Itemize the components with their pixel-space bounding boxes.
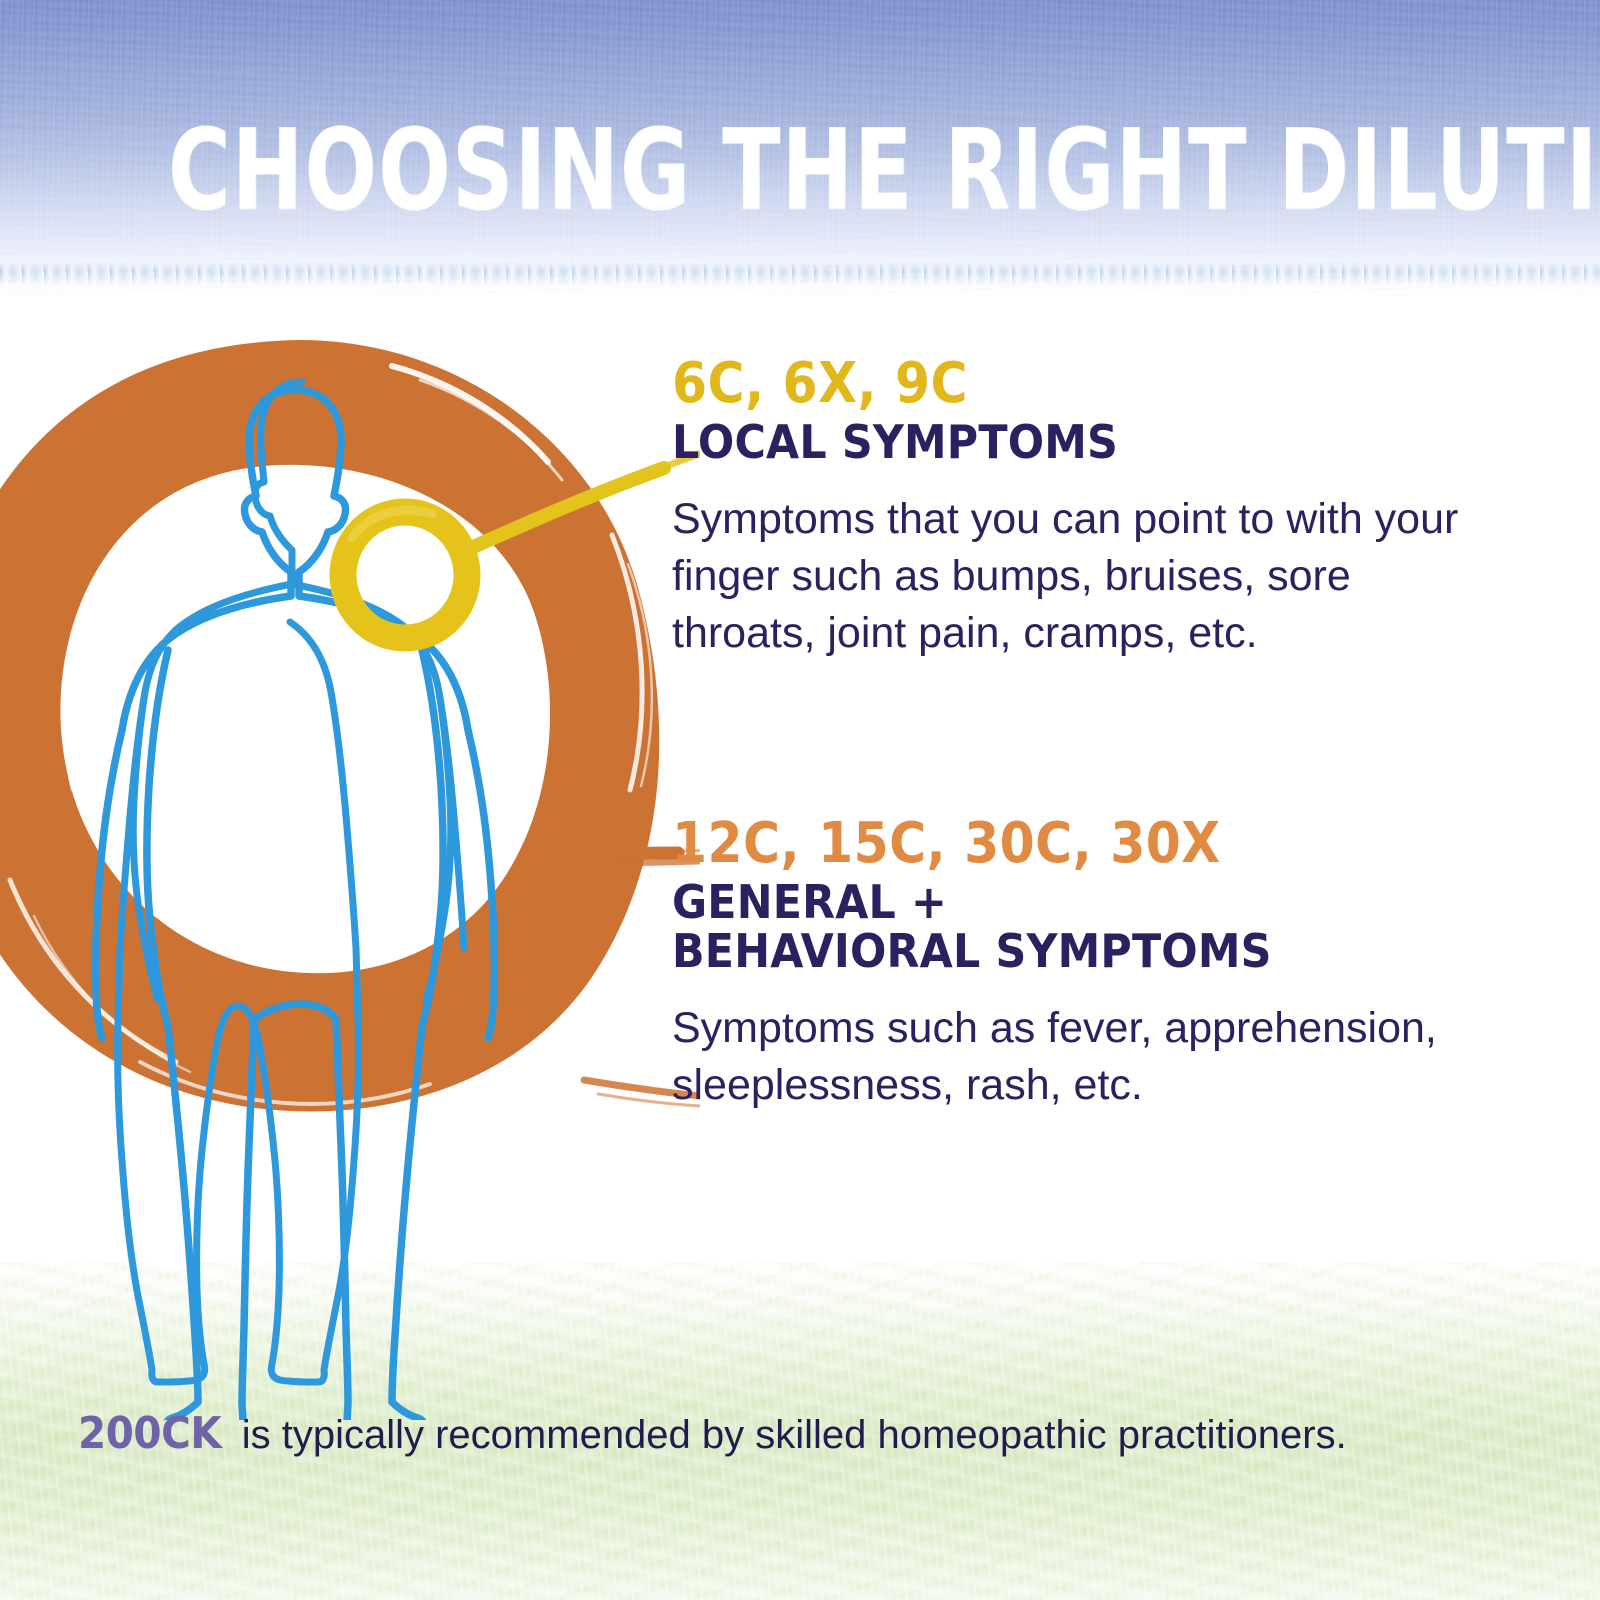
potency-label-local: 6C, 6X, 9C — [672, 355, 1464, 412]
shoulder-highlight-ring — [343, 510, 467, 638]
body-diagram — [0, 320, 700, 1420]
section-local-symptoms: 6C, 6X, 9C LOCAL SYMPTOMS Symptoms that … — [672, 355, 1552, 662]
potency-label-general: 12C, 15C, 30C, 30X — [672, 815, 1464, 872]
section-heading-local: LOCAL SYMPTOMS — [672, 418, 1490, 467]
infographic-page: CHOOSING THE RIGHT DILUTION — [0, 0, 1600, 1600]
section-body-local: Symptoms that you can point to with your… — [672, 491, 1462, 663]
page-title: CHOOSING THE RIGHT DILUTION — [168, 116, 1432, 227]
footer-note: 200CKis typically recommended by skilled… — [78, 1412, 1578, 1456]
section-body-general: Symptoms such as fever, apprehension, sl… — [672, 1000, 1462, 1114]
section-heading-general-line1: GENERAL + — [672, 878, 1490, 927]
footer-potency-label: 200CK — [78, 1412, 221, 1456]
section-heading-general-line2: BEHAVIORAL SYMPTOMS — [672, 927, 1490, 976]
section-general-symptoms: 12C, 15C, 30C, 30X GENERAL + BEHAVIORAL … — [672, 815, 1552, 1114]
footer-note-text: is typically recommended by skilled home… — [242, 1413, 1347, 1457]
